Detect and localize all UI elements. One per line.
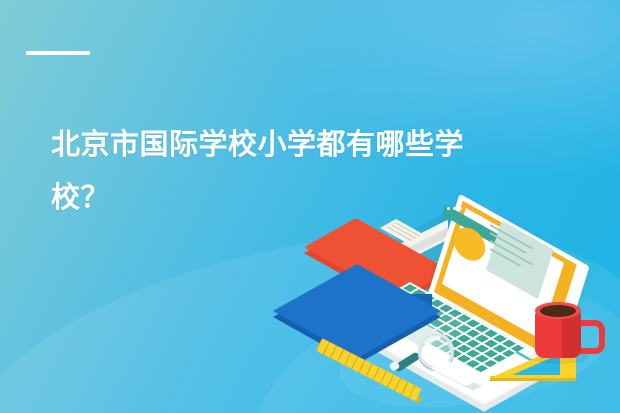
- browser-dot-icon: [453, 207, 456, 210]
- study-desk-illustration: [330, 190, 620, 413]
- decorative-divider-line: [26, 51, 90, 55]
- browser-dot-icon: [459, 207, 462, 210]
- promo-banner: 北京市国际学校小学都有哪些学校？: [0, 0, 620, 413]
- coffee-liquid: [540, 305, 576, 317]
- browser-dot-icon: [447, 207, 450, 210]
